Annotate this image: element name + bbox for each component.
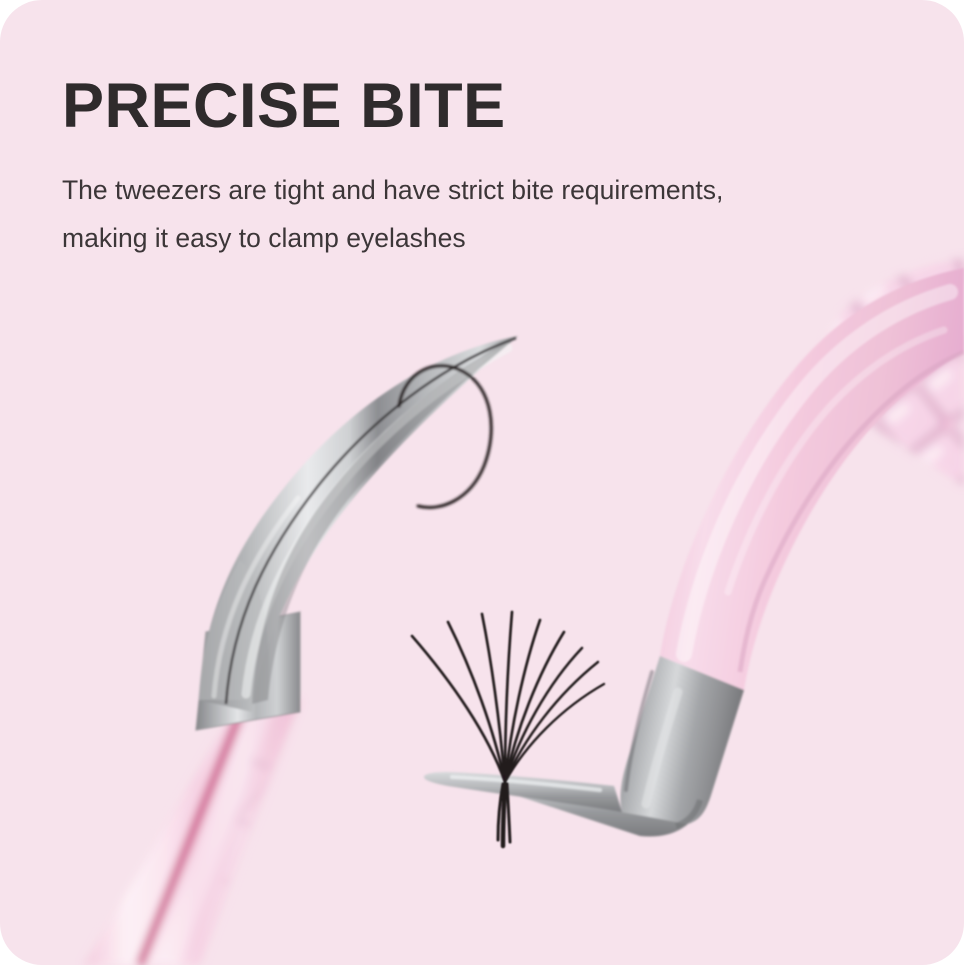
page-title: PRECISE BITE: [62, 74, 862, 138]
product-feature-card: PRECISE BITE The tweezers are tight and …: [0, 0, 964, 965]
subcopy-line-1: The tweezers are tight and have strict b…: [62, 166, 862, 214]
subcopy: The tweezers are tight and have strict b…: [62, 166, 862, 262]
subcopy-line-2: making it easy to clamp eyelashes: [62, 214, 862, 262]
left-tweezer: [84, 336, 518, 965]
copy-block: PRECISE BITE The tweezers are tight and …: [62, 74, 862, 262]
